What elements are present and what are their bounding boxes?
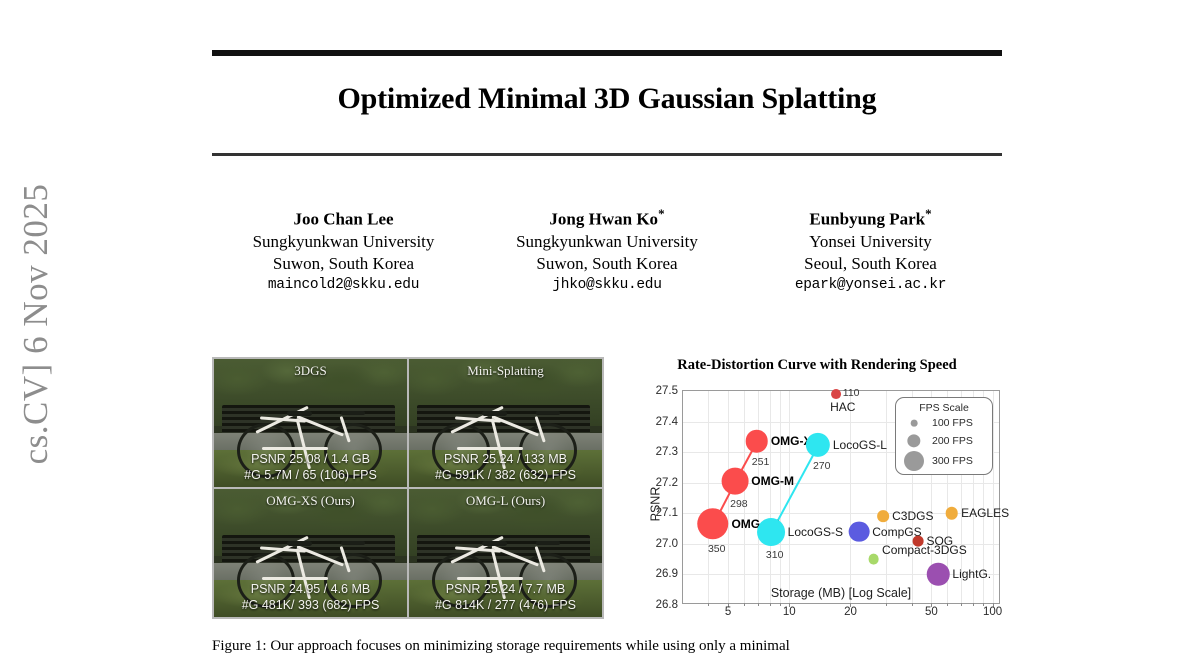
author-location: Suwon, South Korea <box>212 253 475 275</box>
legend-bullet <box>904 451 924 471</box>
page-title: Optimized Minimal 3D Gaussian Splatting <box>212 82 1002 116</box>
panel-method-title: OMG-L (Ours) <box>409 493 602 509</box>
author-entry: Eunbyung Park* Yonsei University Seoul, … <box>739 206 1002 295</box>
gridline <box>758 391 759 603</box>
data-point-label: OMG-M <box>751 474 794 488</box>
panel-method-title: 3DGS <box>214 363 407 379</box>
y-tick-label: 27.5 <box>656 385 678 397</box>
data-point[interactable] <box>697 508 729 540</box>
data-point[interactable] <box>721 468 748 495</box>
legend-label: 300 FPS <box>932 455 973 467</box>
data-point-label: LightG. <box>952 567 991 581</box>
title-rule-top <box>212 50 1002 56</box>
data-point[interactable] <box>745 430 768 453</box>
author-affiliation: Sungkyunkwan University <box>476 231 739 253</box>
gridline <box>770 391 771 603</box>
data-point[interactable] <box>945 507 958 520</box>
gridline <box>708 391 709 603</box>
title-rule-bottom <box>212 153 1002 156</box>
panel-metrics-line2: #G 814K / 277 (476) FPS <box>409 597 602 613</box>
panel-metrics-line1: PSNR 25.08 / 1.4 GB <box>214 451 407 467</box>
fps-annotation: 350 <box>708 543 726 555</box>
panel-metrics-line2: #G 5.7M / 65 (106) FPS <box>214 467 407 483</box>
y-tick-label: 27.3 <box>656 446 678 458</box>
data-point[interactable] <box>831 389 841 399</box>
author-email[interactable]: epark@yonsei.ac.kr <box>739 276 1002 295</box>
x-tick-mark <box>947 603 948 606</box>
panel-metrics: PSNR 25.24 / 7.7 MB #G 814K / 277 (476) … <box>409 581 602 613</box>
legend-label: 100 FPS <box>932 417 973 429</box>
x-tick-mark <box>961 603 962 606</box>
author-name: Jong Hwan Ko* <box>476 206 739 231</box>
panel-metrics-line1: PSNR 25.24 / 133 MB <box>409 451 602 467</box>
data-point-label: Compact-3DGS <box>882 543 967 557</box>
arxiv-stamp-text: cs.CV] 6 Nov 2025 <box>16 184 56 465</box>
x-tick-mark <box>708 603 709 606</box>
author-location: Suwon, South Korea <box>476 253 739 275</box>
panel-metrics-line2: #G 591K / 382 (632) FPS <box>409 467 602 483</box>
author-entry: Jong Hwan Ko* Sungkyunkwan University Su… <box>476 206 739 295</box>
panel-metrics: PSNR 25.24 / 133 MB #G 591K / 382 (632) … <box>409 451 602 483</box>
comparison-panel: Mini-Splatting PSNR 25.24 / 133 MB #G 59… <box>409 359 602 487</box>
panel-method-title: Mini-Splatting <box>409 363 602 379</box>
panel-metrics-line2: #G 481K/ 393 (682) FPS <box>214 597 407 613</box>
gridline <box>780 391 781 603</box>
x-tick-mark <box>973 603 974 606</box>
figure-caption: Figure 1: Our approach focuses on minimi… <box>212 637 1002 657</box>
qualitative-comparison-grid: 3DGS PSNR 25.08 / 1.4 GB #G 5.7M / 65 (1… <box>212 357 604 619</box>
x-tick-mark <box>780 603 781 606</box>
panel-metrics: PSNR 24.95 / 4.6 MB #G 481K/ 393 (682) F… <box>214 581 407 613</box>
rate-distortion-chart: Rate-Distortion Curve with Rendering Spe… <box>632 357 1002 619</box>
legend-bullet <box>911 420 918 427</box>
panel-metrics-line1: PSNR 25.24 / 7.7 MB <box>409 581 602 597</box>
x-tick-mark <box>758 603 759 606</box>
x-tick-mark <box>912 603 913 606</box>
arxiv-side-stamp: cs.CV] 6 Nov 2025 <box>0 0 72 648</box>
legend-label: 200 FPS <box>932 435 973 447</box>
data-point-label: C3DGS <box>892 509 933 523</box>
gridline <box>886 391 887 603</box>
author-affiliation: Sungkyunkwan University <box>212 231 475 253</box>
author-location: Seoul, South Korea <box>739 253 1002 275</box>
legend-entry: 200 FPS <box>896 432 992 450</box>
author-email[interactable]: jhko@skku.edu <box>476 276 739 295</box>
fps-annotation: 251 <box>752 456 770 468</box>
x-tick-label: 5 <box>725 606 731 618</box>
x-tick-mark <box>770 603 771 606</box>
y-tick-label: 27.4 <box>656 416 678 428</box>
y-axis-label: PSNR <box>648 487 662 522</box>
author-affil-marker: * <box>658 206 665 221</box>
x-tick-label: 100 <box>983 606 1002 618</box>
chart-plot-area: 26.826.927.027.127.227.327.427.5 5102050… <box>682 390 1000 604</box>
y-tick-label: 26.9 <box>656 568 678 580</box>
legend-title: FPS Scale <box>896 402 992 414</box>
data-point-label: LocoGS-S <box>788 525 843 539</box>
gridline <box>850 391 851 603</box>
data-point[interactable] <box>849 521 870 542</box>
x-tick-mark <box>886 603 887 606</box>
author-affiliation: Yonsei University <box>739 231 1002 253</box>
paper-page-column: Optimized Minimal 3D Gaussian Splatting … <box>212 0 1002 648</box>
legend-entry: 100 FPS <box>896 414 992 432</box>
chart-title: Rate-Distortion Curve with Rendering Spe… <box>632 357 1002 374</box>
panel-metrics: PSNR 25.08 / 1.4 GB #G 5.7M / 65 (106) F… <box>214 451 407 483</box>
data-point-label: EAGLES <box>961 506 1009 520</box>
fps-annotation: 270 <box>813 460 831 472</box>
data-point[interactable] <box>877 510 889 522</box>
comparison-panel: OMG-L (Ours) PSNR 25.24 / 7.7 MB #G 814K… <box>409 489 602 617</box>
data-point[interactable] <box>927 563 950 586</box>
author-affil-marker: * <box>925 206 932 221</box>
fps-annotation: 298 <box>730 498 748 510</box>
data-point-label: LocoGS-L <box>833 438 887 452</box>
fps-scale-legend: FPS Scale 100 FPS200 FPS300 FPS <box>895 397 993 475</box>
x-tick-label: 20 <box>844 606 857 618</box>
fps-annotation: 310 <box>766 549 784 561</box>
panel-method-title: OMG-XS (Ours) <box>214 493 407 509</box>
author-name: Joo Chan Lee <box>212 206 475 231</box>
data-point[interactable] <box>757 518 785 546</box>
legend-bullet <box>907 434 920 447</box>
author-name: Eunbyung Park* <box>739 206 1002 231</box>
fps-annotation: 110 <box>843 387 860 399</box>
comparison-panel: 3DGS PSNR 25.08 / 1.4 GB #G 5.7M / 65 (1… <box>214 359 407 487</box>
data-point-label: HAC <box>830 400 855 414</box>
y-tick-label: 27.0 <box>656 538 678 550</box>
y-tick-label: 26.8 <box>656 599 678 611</box>
author-email[interactable]: maincold2@skku.edu <box>212 276 475 295</box>
legend-entry: 300 FPS <box>896 452 992 470</box>
x-tick-label: 50 <box>925 606 938 618</box>
author-entry: Joo Chan Lee Sungkyunkwan University Suw… <box>212 206 475 295</box>
author-block: Joo Chan Lee Sungkyunkwan University Suw… <box>212 206 1002 295</box>
comparison-panel: OMG-XS (Ours) PSNR 24.95 / 4.6 MB #G 481… <box>214 489 407 617</box>
x-tick-label: 10 <box>783 606 796 618</box>
x-axis-label: Storage (MB) [Log Scale] <box>682 586 1000 600</box>
panel-metrics-line1: PSNR 24.95 / 4.6 MB <box>214 581 407 597</box>
data-point[interactable] <box>868 554 879 565</box>
x-tick-mark <box>744 603 745 606</box>
